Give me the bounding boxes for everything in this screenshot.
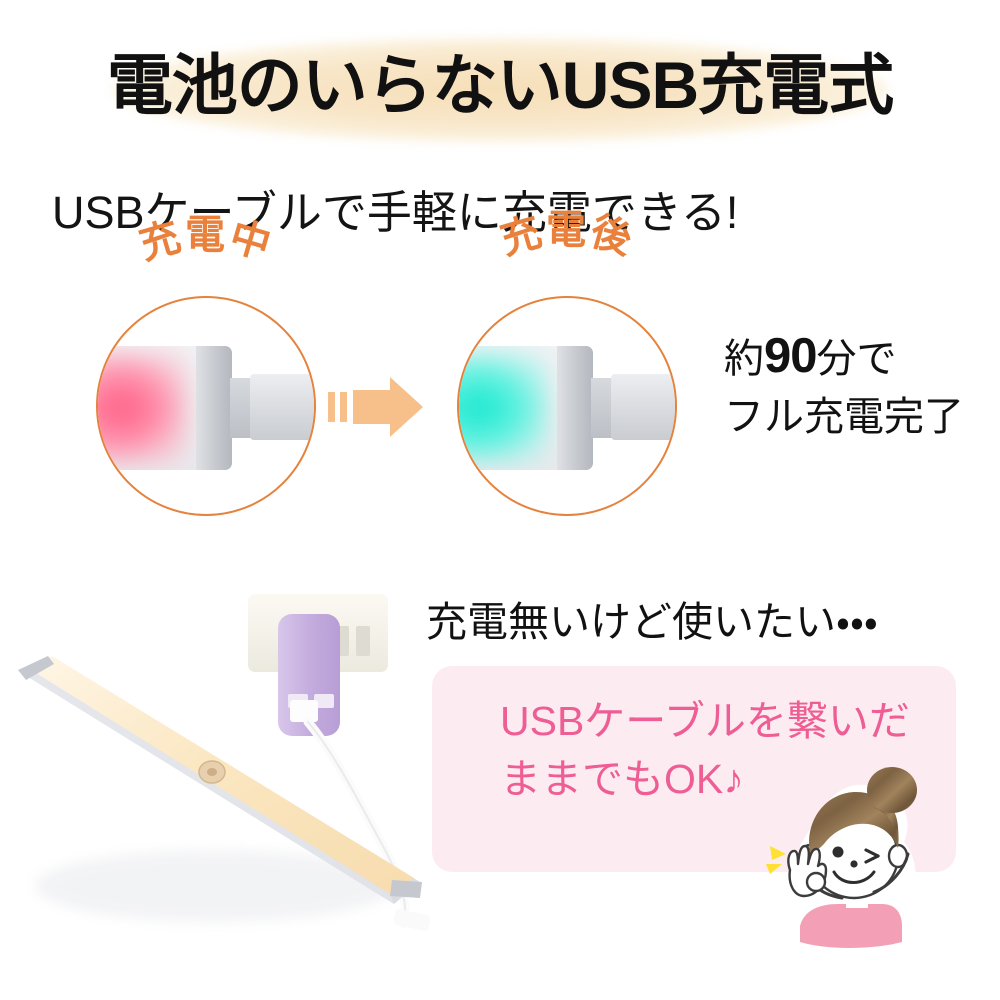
charging-state-circle bbox=[96, 296, 316, 516]
advertisement-page: 電池のいらないUSB充電式 USBケーブルで手軽に充電できる! 充電中 bbox=[0, 0, 1000, 1000]
device-glow-cyan bbox=[457, 352, 549, 464]
mascot-character bbox=[742, 752, 940, 968]
device-neck bbox=[230, 378, 252, 438]
product-photo bbox=[0, 586, 460, 966]
device-diffuser bbox=[457, 346, 567, 470]
device-shell bbox=[196, 346, 232, 470]
usb-light-device-charging bbox=[96, 346, 272, 470]
device-diffuser bbox=[96, 346, 206, 470]
usb-tip-line-1: USBケーブルを繋いだ bbox=[500, 692, 930, 750]
ok-hand-gesture bbox=[788, 846, 826, 896]
charge-time-prefix: 約 bbox=[724, 337, 764, 381]
charge-time-callout: 約90分で フル充電完了 bbox=[724, 332, 986, 453]
charged-state-circle bbox=[457, 296, 677, 516]
subtitle: USBケーブルで手軽に充電できる! bbox=[52, 176, 738, 241]
page-title: 電池のいらないUSB充電式 bbox=[0, 52, 1000, 118]
progress-arrow-icon bbox=[328, 376, 424, 438]
charge-time-suffix: 分で bbox=[817, 337, 897, 381]
device-neck bbox=[591, 378, 613, 438]
usb-light-device-charged bbox=[457, 346, 633, 470]
device-usb-plug bbox=[611, 374, 677, 440]
device-usb-plug bbox=[250, 374, 316, 440]
charge-time-line-2: フル充電完了 bbox=[724, 397, 964, 440]
device-shell bbox=[557, 346, 593, 470]
device-glow-red bbox=[96, 352, 188, 464]
charge-time-line-2-text: フル充電完了 bbox=[724, 395, 964, 439]
charge-time-number: 90 bbox=[764, 329, 817, 383]
sparkle-icon bbox=[766, 846, 786, 874]
bottom-heading: 充電無いけど使いたい・・・ bbox=[426, 588, 878, 648]
charge-time-line-1: 約90分で bbox=[724, 332, 897, 384]
